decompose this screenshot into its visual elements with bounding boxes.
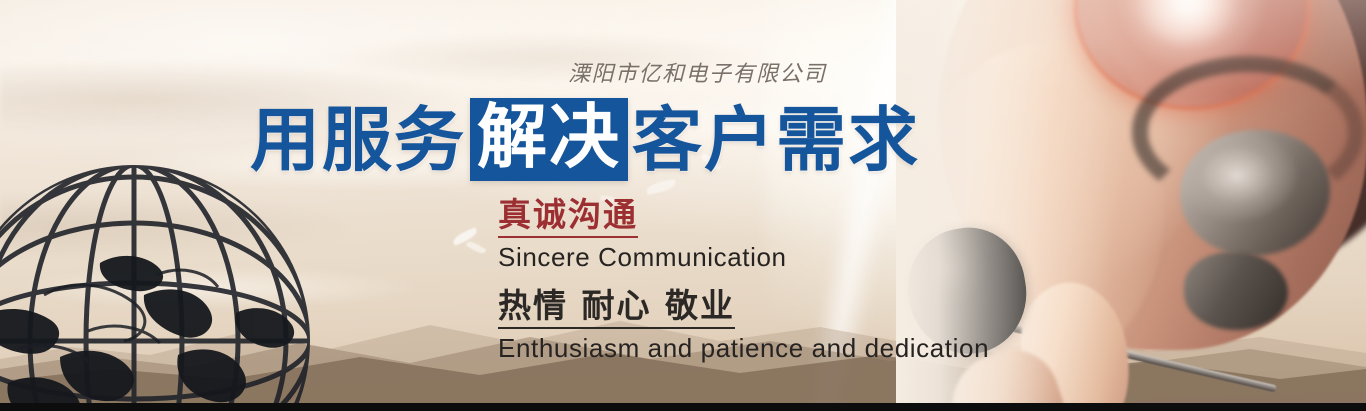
slogan-group-2: 热情 耐心 敬业 Enthusiasm and patience and ded… (498, 287, 989, 364)
slogan-english-1: Sincere Communication (498, 241, 989, 274)
company-name: 溧阳市亿和电子有限公司 (568, 56, 827, 88)
headline-lead: 用服务 (250, 105, 466, 175)
headline: 用服务 解决 客户需求 (250, 98, 920, 181)
slogan-block: 真诚沟通 Sincere Communication 热情 耐心 敬业 Enth… (498, 196, 989, 365)
headline-highlight: 解决 (470, 98, 628, 181)
promotional-banner: 溧阳市亿和电子有限公司 用服务 解决 客户需求 真诚沟通 Sincere Com… (0, 0, 1366, 411)
slogan-group-1: 真诚沟通 Sincere Communication (498, 196, 989, 273)
slogan-english-2: Enthusiasm and patience and dedication (498, 332, 989, 365)
slogan-chinese-1: 真诚沟通 (498, 196, 638, 238)
headline-trail: 客户需求 (632, 105, 920, 175)
slogan-chinese-2: 热情 耐心 敬业 (498, 287, 735, 329)
bottom-bar (0, 403, 1366, 411)
